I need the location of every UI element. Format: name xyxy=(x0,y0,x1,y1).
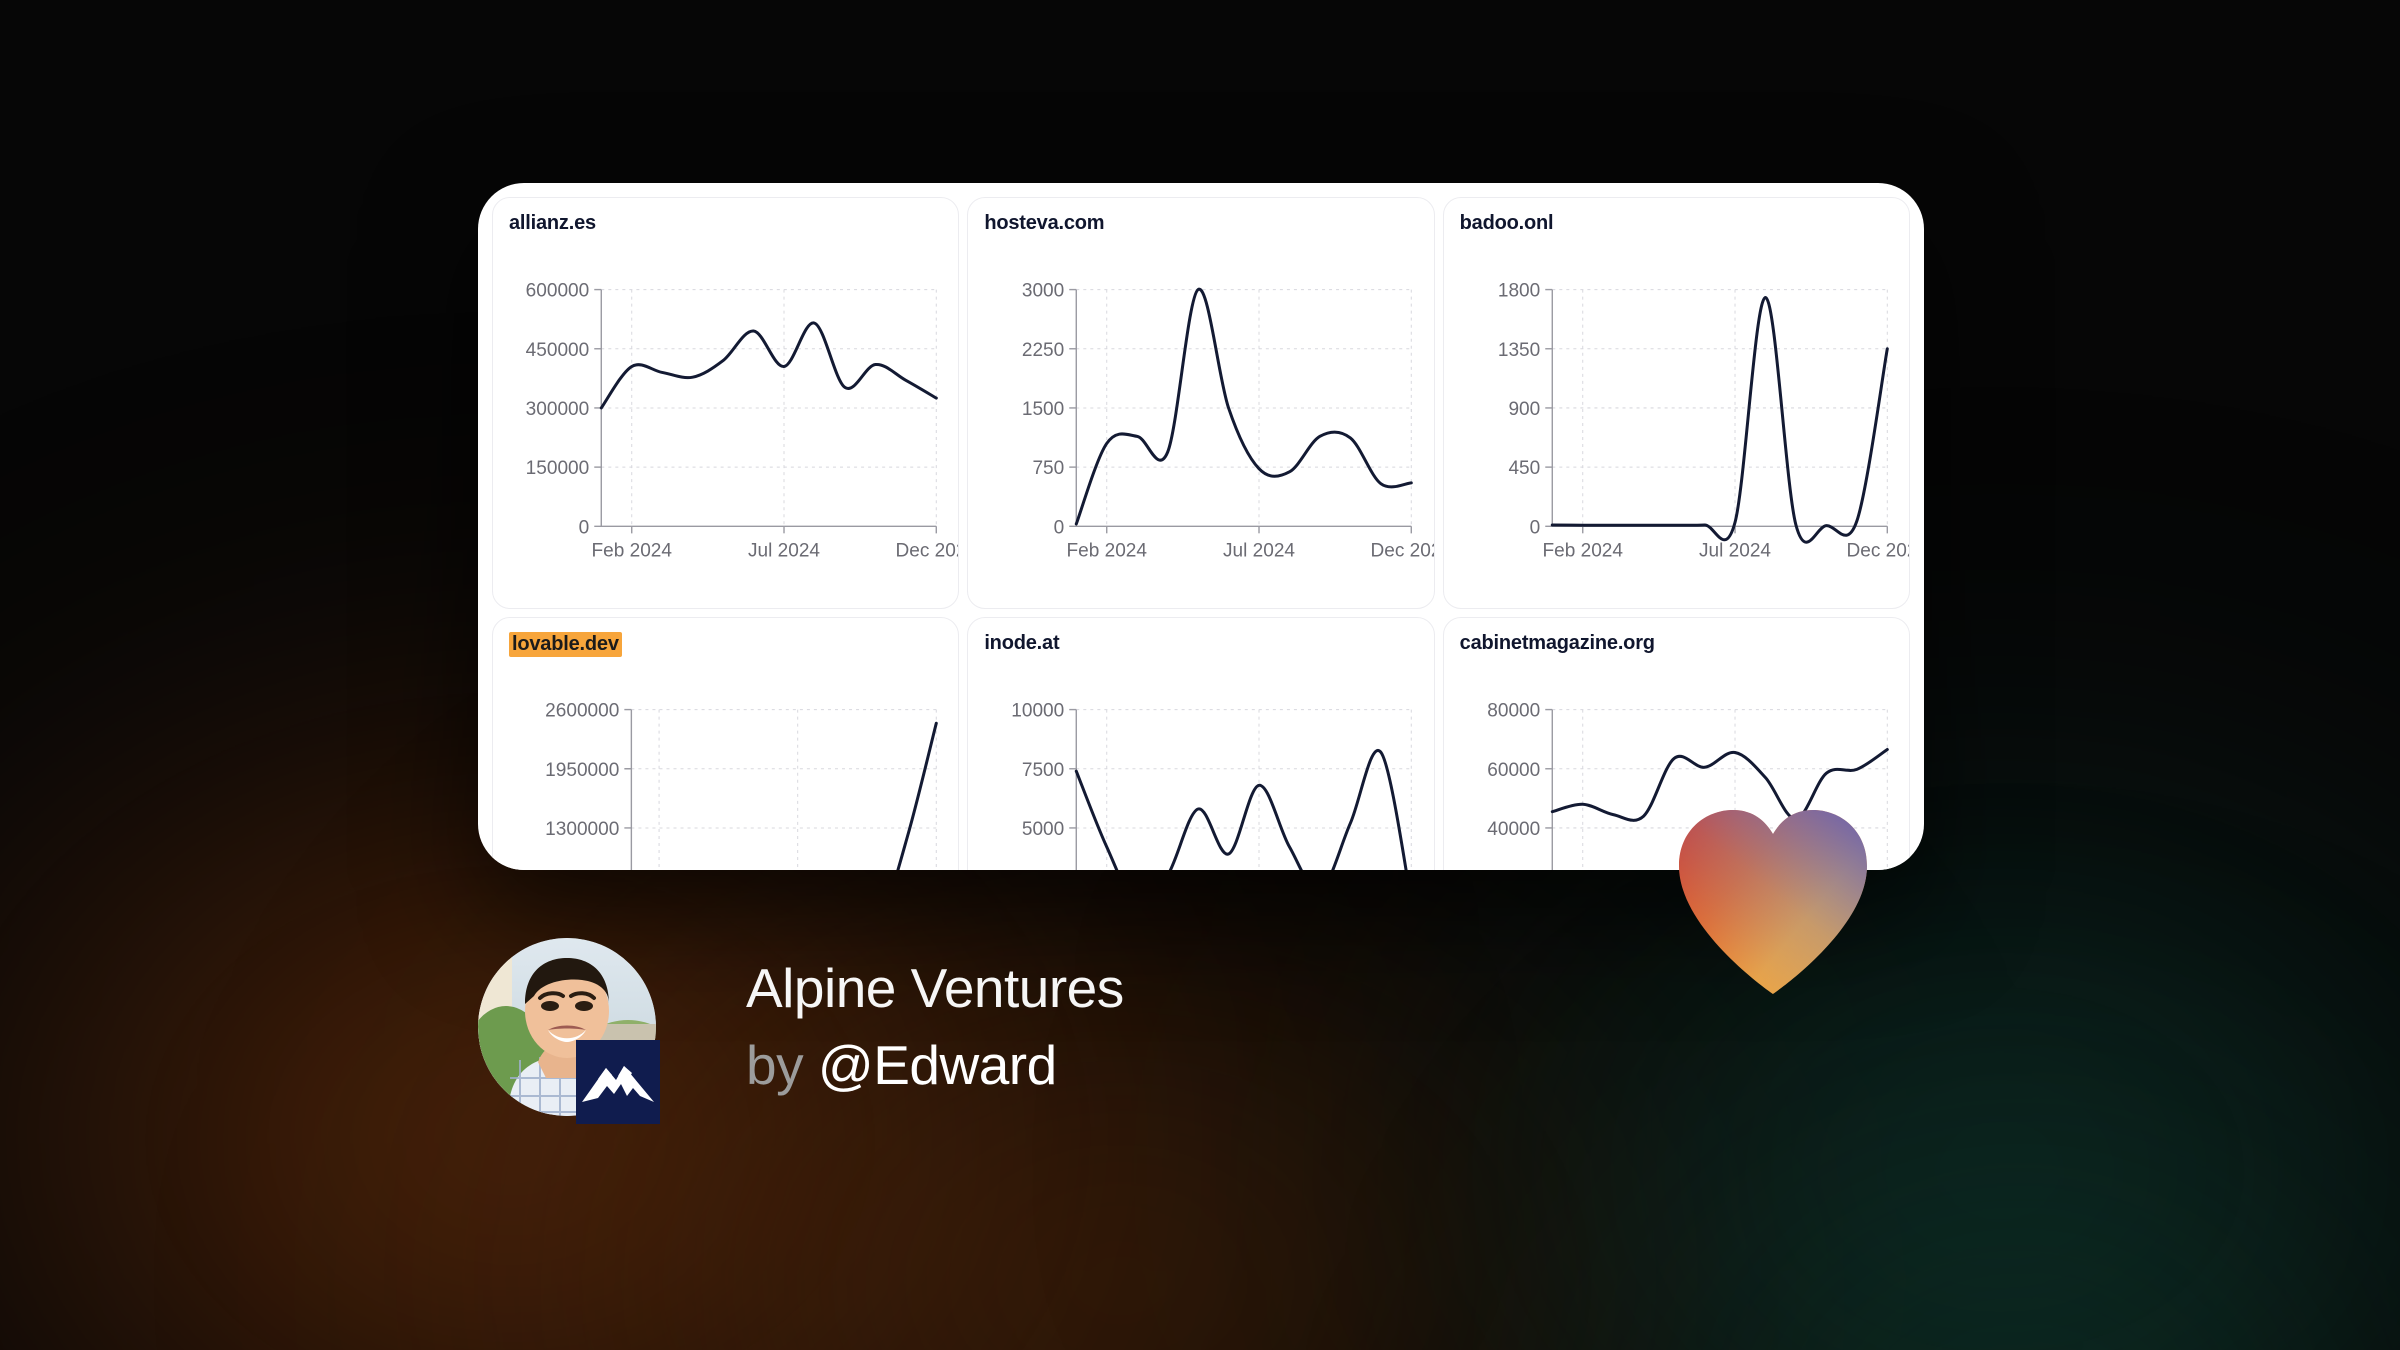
svg-text:1950000: 1950000 xyxy=(545,760,619,781)
chart-plot: 045090013501800Feb 2024Jul 2024Dec 2024 xyxy=(1460,254,1901,602)
author-line: by @Edward xyxy=(746,1038,1124,1093)
svg-text:450000: 450000 xyxy=(526,340,590,361)
svg-text:1350: 1350 xyxy=(1498,340,1540,361)
svg-text:450: 450 xyxy=(1508,458,1540,479)
author-handle: @Edward xyxy=(818,1034,1057,1096)
svg-text:5000: 5000 xyxy=(1022,819,1064,840)
chart-title: inode.at xyxy=(984,632,1059,655)
svg-text:Feb 2024: Feb 2024 xyxy=(1542,540,1623,561)
chart-plot: 25005000750010000Feb 2024Jul 2024Dec 202… xyxy=(984,674,1425,870)
svg-text:150000: 150000 xyxy=(526,458,590,479)
svg-text:Dec 2024: Dec 2024 xyxy=(896,540,960,561)
author-meta: Alpine Ventures by @Edward xyxy=(746,961,1124,1093)
svg-text:Jul 2024: Jul 2024 xyxy=(748,540,820,561)
chart-plot: 0150000300000450000600000Feb 2024Jul 202… xyxy=(509,254,950,602)
chart-title: hosteva.com xyxy=(984,212,1104,235)
svg-text:1500: 1500 xyxy=(1022,399,1064,420)
author-footer: Alpine Ventures by @Edward xyxy=(478,938,1124,1116)
svg-text:80000: 80000 xyxy=(1487,701,1540,722)
svg-text:Feb 2024: Feb 2024 xyxy=(591,540,672,561)
svg-text:3000: 3000 xyxy=(1022,281,1064,302)
svg-text:0: 0 xyxy=(579,517,590,538)
svg-text:10000: 10000 xyxy=(1012,701,1065,722)
chart-plot: 650000130000019500002600000Feb 2024Jul 2… xyxy=(509,674,950,870)
svg-text:1300000: 1300000 xyxy=(545,819,619,840)
svg-text:900: 900 xyxy=(1508,399,1540,420)
svg-text:750: 750 xyxy=(1033,458,1065,479)
chart-tile[interactable]: badoo.onl045090013501800Feb 2024Jul 2024… xyxy=(1443,197,1910,609)
svg-text:300000: 300000 xyxy=(526,399,590,420)
chart-grid: allianz.es0150000300000450000600000Feb 2… xyxy=(478,183,1924,870)
svg-text:7500: 7500 xyxy=(1022,760,1064,781)
svg-text:Jul 2024: Jul 2024 xyxy=(1699,540,1771,561)
svg-text:2600000: 2600000 xyxy=(545,701,619,722)
chart-tile[interactable]: inode.at25005000750010000Feb 2024Jul 202… xyxy=(967,617,1434,870)
svg-text:0: 0 xyxy=(1529,517,1540,538)
dashboard-card: allianz.es0150000300000450000600000Feb 2… xyxy=(478,183,1924,870)
page-title: Alpine Ventures xyxy=(746,961,1124,1016)
chart-title: allianz.es xyxy=(509,212,596,235)
svg-text:60000: 60000 xyxy=(1487,760,1540,781)
svg-text:600000: 600000 xyxy=(526,281,590,302)
svg-text:Jul 2024: Jul 2024 xyxy=(1223,540,1295,561)
mountain-icon xyxy=(576,1040,660,1124)
svg-text:Dec 2024: Dec 2024 xyxy=(1846,540,1910,561)
svg-text:2250: 2250 xyxy=(1022,340,1064,361)
chart-tile[interactable]: hosteva.com0750150022503000Feb 2024Jul 2… xyxy=(967,197,1434,609)
svg-text:1800: 1800 xyxy=(1498,281,1540,302)
svg-text:0: 0 xyxy=(1054,517,1065,538)
chart-tile[interactable]: lovable.dev650000130000019500002600000Fe… xyxy=(492,617,959,870)
chart-title: cabinetmagazine.org xyxy=(1460,632,1655,655)
chart-title: lovable.dev xyxy=(509,632,622,657)
heart-icon[interactable] xyxy=(1673,808,1873,994)
chart-tile[interactable]: allianz.es0150000300000450000600000Feb 2… xyxy=(492,197,959,609)
chart-title: badoo.onl xyxy=(1460,212,1554,235)
svg-text:40000: 40000 xyxy=(1487,819,1540,840)
svg-text:Dec 2024: Dec 2024 xyxy=(1371,540,1435,561)
chart-plot: 0750150022503000Feb 2024Jul 2024Dec 2024 xyxy=(984,254,1425,602)
avatar xyxy=(478,938,656,1116)
svg-text:Feb 2024: Feb 2024 xyxy=(1067,540,1148,561)
by-label: by xyxy=(746,1034,803,1096)
